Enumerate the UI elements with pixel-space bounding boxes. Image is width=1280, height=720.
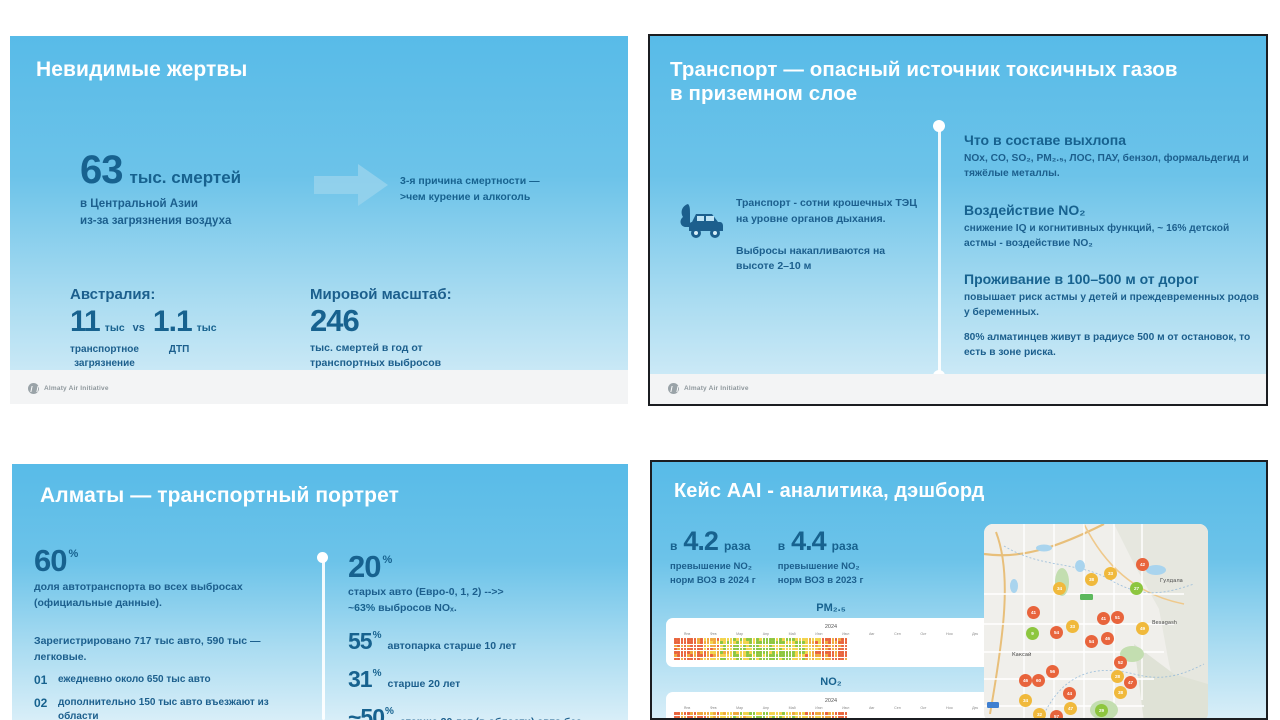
- heatmap-cell: [766, 648, 769, 651]
- heatmap-cell: [815, 638, 818, 641]
- map-sensor-marker[interactable]: 54: [1050, 626, 1063, 639]
- heatmap-cell: [828, 648, 831, 651]
- heatmap-cell: [749, 658, 752, 661]
- heatmap-cell: [841, 712, 844, 715]
- heatmap-column: [730, 638, 733, 660]
- heatmap-cell: [694, 641, 697, 644]
- heatmap-column: [799, 638, 802, 660]
- heatmap-cell: [746, 648, 749, 651]
- heatmap-cell: [707, 712, 710, 715]
- heatmap-cell: [828, 716, 831, 719]
- heatmap-cell: [759, 658, 762, 661]
- heatmap-cell: [713, 651, 716, 654]
- heatmap-cell: [818, 651, 821, 654]
- map-sensor-marker[interactable]: 46: [1019, 674, 1032, 687]
- heatmap-cell: [766, 641, 769, 644]
- heatmap-cell: [818, 716, 821, 719]
- heatmap-cell: [805, 651, 808, 654]
- heatmap-cell: [710, 648, 713, 651]
- heatmap-cell: [786, 654, 789, 657]
- heatmap-cell: [736, 638, 739, 641]
- heatmap-cell: [802, 641, 805, 644]
- heatmap-cell: [763, 654, 766, 657]
- heatmap-cell: [733, 638, 736, 641]
- australia-pollution-caption-2: загрязнение: [70, 357, 139, 371]
- map-sensor-marker[interactable]: 52: [1114, 656, 1127, 669]
- heatmap-cell: [782, 645, 785, 648]
- map-sensor-marker[interactable]: 44: [1063, 687, 1076, 700]
- heatmap-column: [746, 712, 749, 720]
- stat-value: ~50: [348, 704, 384, 720]
- heatmap-cell: [681, 712, 684, 715]
- heatmap-cell: [733, 658, 736, 661]
- heatmap-column: [766, 712, 769, 720]
- heatmap-cell: [694, 658, 697, 661]
- heatmap-cell: [763, 645, 766, 648]
- heatmap-cell: [815, 648, 818, 651]
- heatmap-cell: [704, 645, 707, 648]
- heatmap-cell: [713, 654, 716, 657]
- heatmap-cell: [723, 638, 726, 641]
- heatmap-cell: [792, 716, 795, 719]
- chart-no2[interactable]: NO₂ 2024 ЯнвФевМарАпрМайИюнИюлАвгСенОктН…: [666, 676, 996, 720]
- heatmap-cell: [763, 648, 766, 651]
- heatmap-cell: [694, 716, 697, 719]
- heatmap-cell: [723, 658, 726, 661]
- heatmap-column: [756, 638, 759, 660]
- heatmap-cell: [710, 712, 713, 715]
- heatmap-cell: [822, 641, 825, 644]
- heatmap-cell: [799, 716, 802, 719]
- old-vehicles-percent-sign: %: [382, 554, 392, 566]
- heatmap-column: [763, 638, 766, 660]
- heatmap-cell: [733, 654, 736, 657]
- heatmap-cell: [841, 654, 844, 657]
- heatmap-cell: [704, 712, 707, 715]
- heatmap-column: [812, 712, 815, 720]
- heatmap-column: [723, 712, 726, 720]
- heatmap-cell: [704, 638, 707, 641]
- heatmap-cell: [723, 641, 726, 644]
- heatmap-cell: [700, 645, 703, 648]
- heatmap-column: [740, 712, 743, 720]
- heatmap-cell: [802, 651, 805, 654]
- heatmap-column: [677, 712, 680, 720]
- heatmap-cell: [749, 645, 752, 648]
- heatmap-cell: [704, 716, 707, 719]
- heatmap-cell: [690, 651, 693, 654]
- heatmap-cell: [743, 654, 746, 657]
- chart-x-tick: Сен: [894, 632, 901, 636]
- map-sensor-marker[interactable]: 32: [1033, 708, 1046, 720]
- heatmap-column: [841, 638, 844, 660]
- heatmap-cell: [769, 645, 772, 648]
- heatmap-column: [704, 712, 707, 720]
- heatmap-cell: [792, 658, 795, 661]
- heatmap-column: [825, 638, 828, 660]
- heatmap-cell: [786, 648, 789, 651]
- heatmap-cell: [799, 645, 802, 648]
- slide-aai-case-dashboard[interactable]: Кейс AAI - аналитика, дэшборд в 4.2 раза…: [650, 460, 1268, 720]
- heatmap-column: [822, 638, 825, 660]
- heatmap-cell: [727, 645, 730, 648]
- heatmap-column: [818, 712, 821, 720]
- heatmap-cell: [792, 651, 795, 654]
- heatmap-cell: [704, 641, 707, 644]
- chart-x-tick: Янв: [684, 706, 691, 710]
- heatmap-cell: [789, 712, 792, 715]
- heatmap-cell: [704, 658, 707, 661]
- heatmap-cell: [779, 716, 782, 719]
- callout-line-2: >чем курение и алкоголь: [400, 190, 540, 206]
- heatmap-cell: [802, 712, 805, 715]
- slide-invisible-victims[interactable]: Невидимые жертвы 63 тыс. смертей в Центр…: [10, 36, 628, 404]
- share-description: доля автотранспорта во всех выбросах (оф…: [34, 580, 304, 612]
- heatmap-column: [713, 712, 716, 720]
- transport-text-2: Выбросы накапливаются на высоте 2–10 м: [736, 244, 924, 276]
- heatmap-cell: [694, 645, 697, 648]
- heatmap-cell: [697, 712, 700, 715]
- heatmap-column: [756, 712, 759, 720]
- heatmap-cell: [677, 651, 680, 654]
- heatmap-cell: [704, 654, 707, 657]
- heatmap-cell: [753, 658, 756, 661]
- stat-label: старше 20 лет (в области) авто без катал…: [400, 715, 624, 720]
- heatmap-cell: [684, 645, 687, 648]
- stat-world-label: Мировой масштаб:: [310, 286, 452, 303]
- heatmap-column: [753, 638, 756, 660]
- heatmap-cell: [743, 651, 746, 654]
- heatmap-cell: [841, 658, 844, 661]
- heatmap-cell: [746, 658, 749, 661]
- heatmap-cell: [815, 645, 818, 648]
- heatmap-cell: [713, 712, 716, 715]
- heatmap-column: [769, 638, 772, 660]
- heatmap-column: [832, 712, 835, 720]
- heatmap-cell: [713, 645, 716, 648]
- list-item: Проживание в 100–500 м от дорог повышает…: [964, 271, 1260, 360]
- heatmap-cell: [769, 648, 772, 651]
- heatmap-column: [723, 638, 726, 660]
- heatmap-cell: [707, 658, 710, 661]
- heatmap-cell: [782, 648, 785, 651]
- heatmap-cell: [763, 716, 766, 719]
- map-sensor-marker[interactable]: 9: [1026, 627, 1039, 640]
- block-body: снижение IQ и когнитивных функций, ~ 16%…: [964, 221, 1260, 252]
- heatmap-column: [812, 638, 815, 660]
- heatmap-column: [740, 638, 743, 660]
- heatmap-cell: [690, 654, 693, 657]
- callout-mortality-cause: 3-я причина смертности — >чем курение и …: [400, 174, 540, 206]
- callout-line-1: 3-я причина смертности —: [400, 174, 540, 190]
- heatmap-cell: [697, 651, 700, 654]
- heatmap-cell: [740, 638, 743, 641]
- heatmap-cell: [740, 645, 743, 648]
- stat-australia: Австралия: 11 тыс vs 1.1 тыс транспортно…: [70, 286, 217, 371]
- heatmap-cell: [805, 638, 808, 641]
- heatmap-column: [720, 712, 723, 720]
- heatmap-cell: [687, 638, 690, 641]
- stat-sub-1: превышение NO₂: [670, 560, 756, 574]
- heatmap-column: [769, 712, 772, 720]
- heatmap-cell: [727, 638, 730, 641]
- heatmap-cell: [772, 638, 775, 641]
- map-sensor-marker[interactable]: 33: [1066, 620, 1079, 633]
- heatmap-cell: [825, 638, 828, 641]
- heatmap-cell: [681, 645, 684, 648]
- heatmap-cell: [792, 654, 795, 657]
- heatmap-cell: [782, 712, 785, 715]
- heatmap-column: [818, 638, 821, 660]
- timeline-dot-top: [317, 552, 328, 563]
- page-title: Невидимые жертвы: [36, 58, 247, 83]
- chart-pm25[interactable]: PM₂.₅ 2024 ЯнвФевМарАпрМайИюнИюлАвгСенОк…: [666, 602, 996, 667]
- map-sensor-marker[interactable]: 41: [1097, 612, 1110, 625]
- heatmap-cell: [740, 651, 743, 654]
- map-sensor-marker[interactable]: 38: [1114, 686, 1127, 699]
- heatmap-cell: [681, 654, 684, 657]
- stat-label: старше 20 лет: [388, 677, 461, 691]
- heatmap-cell: [733, 645, 736, 648]
- heatmap-cell: [832, 641, 835, 644]
- australia-crash-unit: тыс: [197, 322, 217, 334]
- stat-value: 4.2: [683, 526, 718, 557]
- heatmap-cell: [720, 641, 723, 644]
- heatmap-cell: [746, 645, 749, 648]
- heatmap-cell: [789, 651, 792, 654]
- heatmap-cell: [684, 651, 687, 654]
- heatmap-cell: [759, 654, 762, 657]
- heatmap-cell: [776, 641, 779, 644]
- heatmap-cell: [825, 648, 828, 651]
- chart-x-tick: Апр: [763, 632, 769, 636]
- slide-transport-toxic-gases[interactable]: Транспорт — опасный источник токсичных г…: [648, 34, 1268, 406]
- heatmap-column: [743, 712, 746, 720]
- exhaust-info-list: Что в составе выхлопа NOx, CO, SO₂, PM₂.…: [964, 132, 1260, 360]
- map-sensor-marker[interactable]: 46: [1101, 632, 1114, 645]
- map-sensor-marker[interactable]: 27: [1130, 582, 1143, 595]
- chart-x-tick: Янв: [684, 632, 691, 636]
- heatmap-column: [786, 712, 789, 720]
- heatmap-cell: [674, 654, 677, 657]
- heatmap-cell: [799, 641, 802, 644]
- desc-suffix: выбросов NOₓ.: [375, 602, 457, 614]
- map-sensor-marker[interactable]: 54: [1085, 635, 1098, 648]
- heatmap-cell: [746, 641, 749, 644]
- heatmap-cell: [684, 716, 687, 719]
- heatmap-cell: [700, 658, 703, 661]
- versus-label: vs: [133, 322, 145, 334]
- heatmap-cell: [674, 658, 677, 661]
- heatmap-cell: [759, 712, 762, 715]
- heatmap-column: [805, 712, 808, 720]
- share-percent-sign: %: [68, 548, 78, 560]
- heatmap-cell: [736, 712, 739, 715]
- heatmap-cell: [776, 716, 779, 719]
- heatmap-cell: [736, 654, 739, 657]
- transport-share-block: 60 % доля автотранспорта во всех выброса…: [34, 546, 304, 720]
- heatmap-cell: [730, 654, 733, 657]
- heatmap-cell: [736, 648, 739, 651]
- heatmap-cell: [789, 648, 792, 651]
- australia-pollution-unit: тыс: [105, 322, 125, 334]
- map-sensor-marker[interactable]: 49: [1136, 622, 1149, 635]
- chart-x-tick: Мар: [736, 706, 743, 710]
- heatmap-cell: [789, 645, 792, 648]
- heatmap-column: [746, 638, 749, 660]
- stat-world: Мировой масштаб: 246 тыс. смертей в год …: [310, 286, 452, 371]
- heatmap-cell: [835, 716, 838, 719]
- chart-subtitle: 2024: [674, 698, 988, 704]
- heatmap-cell: [687, 712, 690, 715]
- heatmap-cell: [772, 658, 775, 661]
- heatmap-cell: [838, 712, 841, 715]
- almaty-sensor-map[interactable]: Гулдала Besagash Каксай 4233382734415141…: [984, 524, 1208, 720]
- heatmap-cell: [759, 645, 762, 648]
- map-sensor-marker[interactable]: 57: [1050, 710, 1063, 720]
- heatmap-cell: [845, 654, 848, 657]
- heatmap-column: [694, 638, 697, 660]
- stat-world-sub2: транспортных выбросов: [310, 356, 452, 371]
- heatmap-cell: [677, 716, 680, 719]
- map-sensor-marker[interactable]: 60: [1032, 674, 1045, 687]
- heatmap-column: [815, 638, 818, 660]
- heatmap-column: [687, 638, 690, 660]
- heatmap-cell: [766, 658, 769, 661]
- heatmap-cell: [818, 645, 821, 648]
- heatmap-cell: [713, 658, 716, 661]
- list-item-number: 01: [34, 673, 50, 687]
- heatmap-cell: [845, 638, 848, 641]
- heatmap-column: [674, 638, 677, 660]
- heatmap-cell: [749, 716, 752, 719]
- chart-title: PM₂.₅: [666, 602, 996, 614]
- heatmap-cell: [772, 641, 775, 644]
- heatmap-cell: [769, 716, 772, 719]
- heatmap-column: [782, 638, 785, 660]
- list-item-label: ежедневно около 650 тыс авто: [58, 673, 211, 688]
- heatmap-cell: [687, 651, 690, 654]
- heatmap-cell: [835, 712, 838, 715]
- heatmap-cell: [841, 716, 844, 719]
- heatmap-cell: [681, 641, 684, 644]
- heatmap-cell: [707, 654, 710, 657]
- heatmap-cell: [776, 638, 779, 641]
- heatmap-cell: [782, 716, 785, 719]
- heatmap-cell: [756, 658, 759, 661]
- heatmap-cell: [832, 654, 835, 657]
- heatmap-column: [727, 712, 730, 720]
- heatmap-cell: [782, 638, 785, 641]
- heatmap-cell: [789, 658, 792, 661]
- stat-sub-2: норм ВОЗ в 2024 г: [670, 574, 756, 588]
- map-sensor-marker[interactable]: 34: [1019, 694, 1032, 707]
- heatmap-cell: [723, 651, 726, 654]
- chart-subtitle: 2024: [674, 624, 988, 630]
- heatmap-cell: [740, 654, 743, 657]
- heatmap-cell: [717, 645, 720, 648]
- heatmap-cell: [809, 648, 812, 651]
- heatmap-cell: [710, 641, 713, 644]
- transport-text-1: Транспорт - сотни крошечных ТЭЦ на уровн…: [736, 196, 924, 228]
- timeline-dot-top: [933, 120, 945, 132]
- heatmap-cell: [723, 712, 726, 715]
- chart-x-tick: Июл: [842, 632, 849, 636]
- heatmap-cell: [779, 658, 782, 661]
- heatmap-cell: [674, 638, 677, 641]
- map-sensor-marker[interactable]: 56: [1046, 665, 1059, 678]
- map-sensor-marker[interactable]: 38: [1085, 573, 1098, 586]
- heatmap-cell: [809, 658, 812, 661]
- heatmap-cell: [713, 716, 716, 719]
- heatmap-column: [792, 638, 795, 660]
- heatmap-cell: [841, 641, 844, 644]
- list-item: 01 ежедневно около 650 тыс авто: [34, 673, 304, 688]
- map-sensor-marker[interactable]: 33: [1104, 567, 1117, 580]
- heatmap-cell: [717, 654, 720, 657]
- heatmap-cell: [736, 651, 739, 654]
- heatmap-cell: [838, 648, 841, 651]
- heatmap-cell: [809, 716, 812, 719]
- heatmap-cell: [707, 651, 710, 654]
- slide-almaty-transport-portrait[interactable]: Алматы — транспортный портрет 60 % доля …: [12, 464, 628, 720]
- heatmap-cell: [809, 654, 812, 657]
- heatmap-cell: [812, 651, 815, 654]
- heatmap-column: [782, 712, 785, 720]
- map-sensor-marker[interactable]: 47: [1124, 676, 1137, 689]
- heatmap-cell: [795, 641, 798, 644]
- heatmap-cell: [700, 648, 703, 651]
- map-sensor-marker[interactable]: 29: [1095, 704, 1108, 717]
- heatmap-cell: [769, 654, 772, 657]
- heatmap-cell: [779, 712, 782, 715]
- stat-suffix: раза: [724, 539, 751, 553]
- heatmap-cell: [740, 658, 743, 661]
- heatmap-cell: [792, 712, 795, 715]
- heatmap-cell: [707, 641, 710, 644]
- map-sensor-marker[interactable]: 47: [1064, 702, 1077, 715]
- heatmap-cell: [835, 641, 838, 644]
- map-sensor-marker[interactable]: 51: [1111, 611, 1124, 624]
- map-sensor-marker[interactable]: 41: [1027, 606, 1040, 619]
- heatmap-cell: [727, 716, 730, 719]
- heatmap-cell: [845, 641, 848, 644]
- heatmap-cell: [776, 654, 779, 657]
- map-sensor-marker[interactable]: 28: [1111, 670, 1124, 683]
- heatmap-cell: [707, 638, 710, 641]
- heatmap-cell: [828, 654, 831, 657]
- map-sensor-marker[interactable]: 42: [1136, 558, 1149, 571]
- block-body-secondary: 80% алматинцев живут в радиусе 500 м от …: [964, 330, 1260, 361]
- heatmap-column: [736, 638, 739, 660]
- heatmap-cell: [776, 658, 779, 661]
- heatmap-cell: [838, 654, 841, 657]
- registered-vehicles: Зарегистрировано 717 тыс авто, 590 тыс —…: [34, 634, 304, 666]
- page-title: Транспорт — опасный источник токсичных г…: [670, 58, 1250, 106]
- heatmap-column: [772, 638, 775, 660]
- heatmap-column: [822, 712, 825, 720]
- heatmap-cell: [697, 716, 700, 719]
- heatmap-cell: [756, 641, 759, 644]
- heatmap-cell: [740, 716, 743, 719]
- map-sensor-marker[interactable]: 34: [1053, 582, 1066, 595]
- heatmap-cell: [795, 654, 798, 657]
- heatmap-column: [730, 712, 733, 720]
- stat-deaths-sub2: из-за загрязнения воздуха: [80, 213, 241, 230]
- footer-brand-label: Almaty Air Initiative: [44, 385, 109, 392]
- heatmap-cell: [776, 645, 779, 648]
- heatmap-cell: [815, 641, 818, 644]
